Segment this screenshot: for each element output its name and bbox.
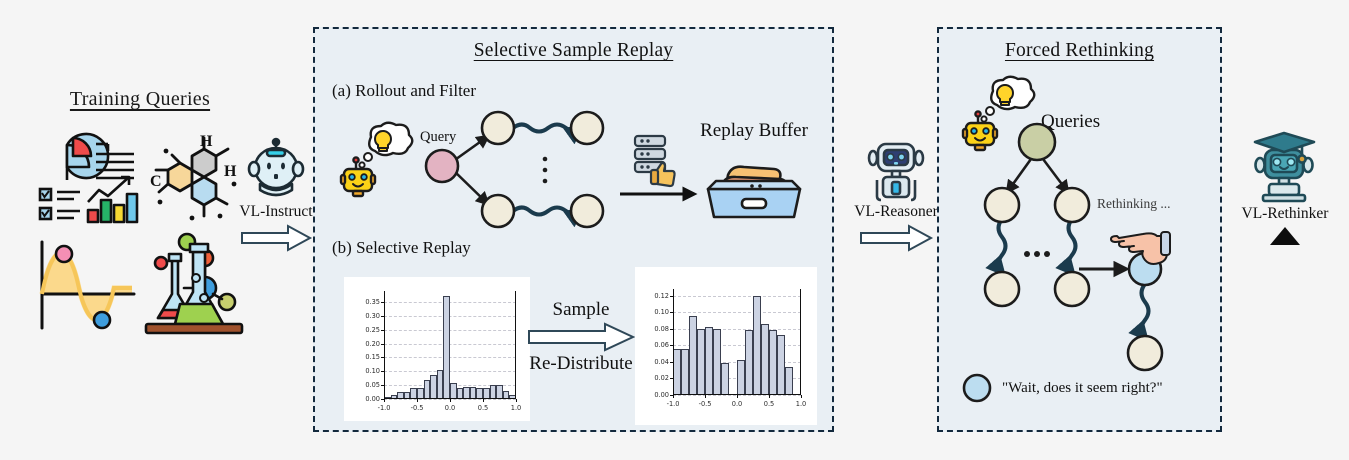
x-tick-label: 1.0	[796, 400, 807, 408]
fr-title: Forced Rethinking	[939, 40, 1220, 62]
x-tick-label: 0.0	[732, 400, 743, 408]
histogram-bar	[721, 363, 729, 395]
stage-vl-instruct-label: VL-Instruct	[228, 203, 324, 221]
y-tick-label: 0.04	[654, 358, 669, 366]
gridline	[673, 296, 801, 297]
histogram-bar	[753, 296, 761, 395]
fr-queries-label: Queries	[1041, 111, 1100, 133]
server-thumbs-up-icon	[633, 132, 679, 186]
gridline	[384, 316, 516, 317]
y-tick-label: 0.00	[654, 391, 669, 399]
hollow-right-arrow-icon	[859, 224, 933, 252]
y-tick-label: 0.25	[365, 326, 380, 334]
hollow-right-arrow-icon	[527, 322, 635, 352]
x-tick-label: 0.5	[764, 400, 775, 408]
sample-label: Sample	[521, 299, 641, 321]
y-tick-label: 0.35	[365, 298, 380, 306]
y-tick-label: 0.05	[365, 381, 380, 389]
histogram-after-card: 0.000.020.040.060.080.100.12-1.0-0.50.00…	[635, 267, 817, 425]
histogram-bar	[777, 335, 785, 395]
y-tick-label: 0.00	[365, 395, 380, 403]
rethinker-robot-graduate-icon	[1250, 132, 1320, 204]
histogram-bar	[450, 383, 457, 399]
x-tick-label: 1.0	[511, 404, 522, 412]
stage-vl-reasoner: VL-Reasoner	[846, 140, 946, 252]
x-tick-mark	[705, 395, 706, 398]
x-tick-mark	[483, 399, 484, 402]
fr-legend: "Wait, does it seem right?"	[961, 372, 1163, 404]
legend-blue-node	[961, 372, 993, 404]
y-axis	[384, 291, 385, 399]
histogram-bar	[713, 329, 721, 395]
x-tick-mark	[769, 395, 770, 398]
sample-redistribute-group: Sample Re-Distribute	[521, 299, 641, 375]
plot-area	[384, 291, 516, 399]
x-tick-mark	[516, 399, 517, 402]
histogram-before-card: 0.000.050.100.150.200.250.300.35-1.0-0.5…	[344, 277, 530, 421]
histogram-bar	[769, 330, 777, 395]
histogram-bar	[430, 375, 437, 399]
x-tick-mark	[384, 399, 385, 402]
histogram-bar	[785, 367, 793, 395]
x-tick-label: 0.5	[478, 404, 489, 412]
training-queries-group: Training Queries	[34, 88, 246, 348]
training-queries-title: Training Queries	[34, 88, 246, 111]
replay-buffer-file-tray-icon	[704, 145, 804, 221]
y-tick-label: 0.08	[654, 325, 669, 333]
x-tick-label: -1.0	[378, 404, 391, 412]
x-tick-label: -0.5	[699, 400, 712, 408]
histogram-bar	[745, 330, 753, 395]
gridline	[384, 330, 516, 331]
x-tick-label: -0.5	[411, 404, 424, 412]
black-triangle-marker	[1268, 225, 1302, 247]
rethinking-label: Rethinking ...	[1097, 196, 1171, 212]
y-tick-label: 0.10	[654, 308, 669, 316]
svg-text:H: H	[200, 133, 213, 150]
stage-vl-instruct: VL-Instruct	[228, 138, 324, 252]
x-tick-label: -1.0	[667, 400, 680, 408]
hollow-right-arrow-icon	[240, 224, 312, 252]
histogram-bar	[737, 360, 745, 395]
y-axis	[800, 289, 801, 395]
histogram-bar	[689, 316, 697, 396]
panel-selective-sample-replay: Selective Sample Replay (a) Rollout and …	[313, 27, 834, 432]
y-tick-label: 0.06	[654, 341, 669, 349]
x-tick-label: 0.0	[445, 404, 456, 412]
gridline	[673, 312, 801, 313]
histogram-after: 0.000.020.040.060.080.100.12-1.0-0.50.00…	[635, 267, 817, 425]
training-queries-icon-grid: H H C	[34, 132, 246, 342]
ssr-query-label: Query	[420, 129, 456, 146]
figure-canvas: Training Queries	[0, 0, 1349, 460]
ssr-section-b-label: (b) Selective Replay	[332, 238, 471, 258]
thinking-robot-lightbulb-icon	[341, 121, 419, 199]
fr-legend-text: "Wait, does it seem right?"	[1002, 380, 1163, 397]
histogram-bar	[443, 296, 450, 399]
x-tick-mark	[737, 395, 738, 398]
histogram-bar	[437, 370, 444, 399]
thinking-robot-lightbulb-icon	[963, 75, 1041, 155]
histogram-bar	[681, 349, 689, 395]
ssr-title: Selective Sample Replay	[315, 40, 832, 62]
y-tick-label: 0.10	[365, 367, 380, 375]
y-tick-label: 0.12	[654, 292, 669, 300]
x-tick-mark	[417, 399, 418, 402]
ssr-section-a-label: (a) Rollout and Filter	[332, 81, 476, 101]
panel-forced-rethinking: Forced Rethinking	[937, 27, 1222, 432]
y-tick-label: 0.20	[365, 340, 380, 348]
stage-vl-rethinker-label: VL-Rethinker	[1231, 205, 1339, 223]
y-tick-label: 0.15	[365, 353, 380, 361]
redistribute-label: Re-Distribute	[521, 353, 641, 375]
x-tick-mark	[673, 395, 674, 398]
histogram-bar	[424, 380, 431, 399]
gridline	[384, 302, 516, 303]
stage-vl-reasoner-label: VL-Reasoner	[846, 203, 946, 221]
histogram-bar	[697, 329, 705, 395]
histogram-bar	[761, 324, 769, 395]
svg-text:C: C	[150, 173, 162, 190]
y-tick-label: 0.30	[365, 312, 380, 320]
sine-wave-plot-icon	[34, 236, 138, 336]
gridline	[384, 371, 516, 372]
histogram-bar	[705, 327, 713, 395]
y-axis	[515, 291, 516, 399]
x-tick-mark	[450, 399, 451, 402]
replay-buffer-title: Replay Buffer	[674, 120, 834, 142]
plot-area	[673, 289, 801, 395]
reasoner-robot-icon	[867, 140, 925, 202]
instruct-robot-icon	[246, 138, 306, 202]
histogram-before: 0.000.050.100.150.200.250.300.35-1.0-0.5…	[344, 277, 530, 421]
y-tick-label: 0.02	[654, 374, 669, 382]
gridline	[384, 344, 516, 345]
pointing-hand-icon	[1117, 226, 1175, 268]
gridline	[384, 357, 516, 358]
pie-chart-and-bars-icon	[36, 132, 138, 228]
x-tick-mark	[801, 395, 802, 398]
y-axis	[673, 289, 674, 395]
stage-vl-rethinker: VL-Rethinker	[1231, 132, 1339, 247]
